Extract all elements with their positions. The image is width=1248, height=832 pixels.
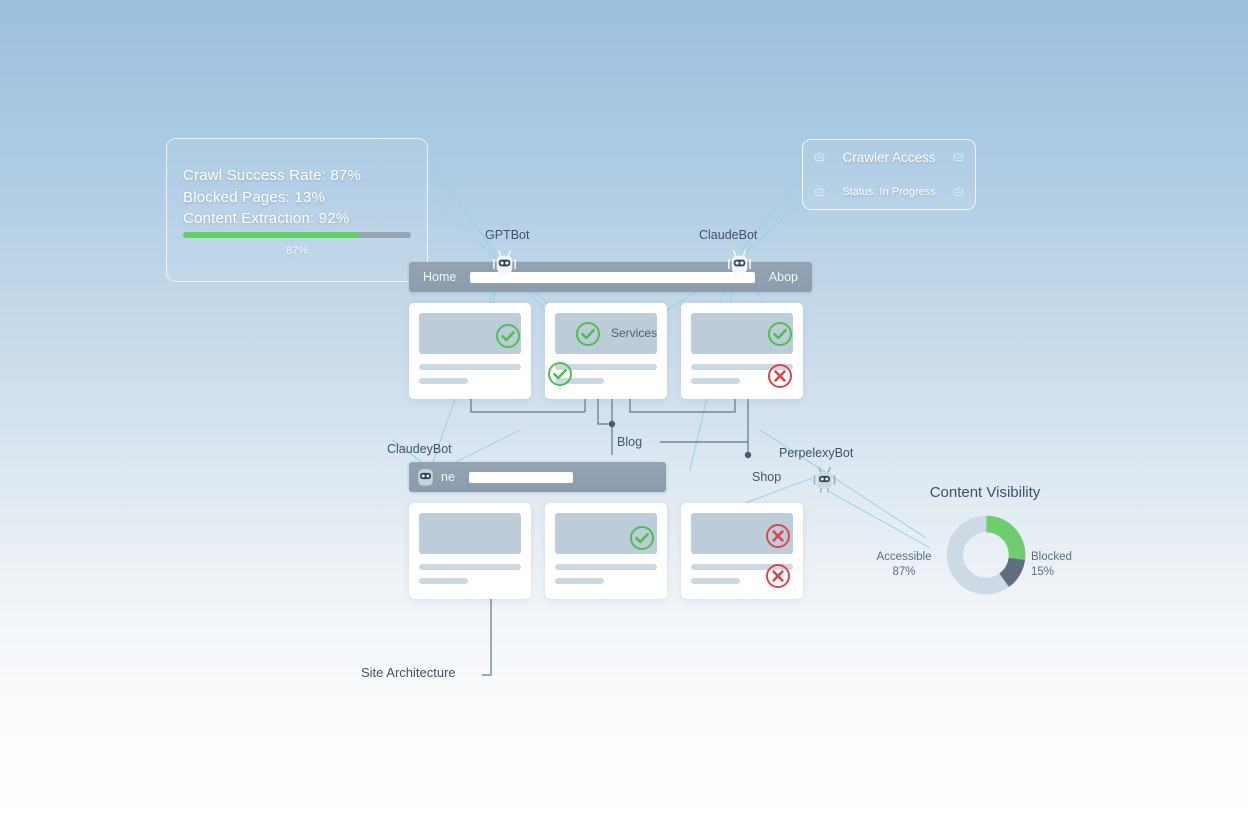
- robot-icon: [487, 247, 522, 279]
- browser-window-top: Home Abop Services: [409, 262, 812, 399]
- crawler-status-text: Status: In Progress: [827, 186, 951, 198]
- page-card-home[interactable]: [409, 303, 531, 399]
- node-label-blog: Blog: [617, 435, 642, 449]
- nav-about-link[interactable]: Abop: [769, 270, 798, 284]
- robot-icon: [808, 464, 841, 494]
- status-badge-blocked: [765, 563, 791, 589]
- bottom-card-row: [409, 503, 812, 599]
- robot-icon: [951, 185, 966, 199]
- status-badge-blocked: [765, 523, 791, 549]
- robot-icon: [409, 461, 442, 491]
- donut-svg: [945, 514, 1027, 596]
- progress-bar: 87%: [183, 232, 411, 257]
- status-badge-accessible: [629, 525, 655, 551]
- connector-lines-layer: [0, 0, 1248, 832]
- legend-blocked-name: Blocked: [1031, 550, 1105, 565]
- card-text-line: [419, 564, 521, 570]
- robot-icon: [812, 185, 827, 199]
- card-text-line: [419, 378, 468, 384]
- bot-label-claudebot: ClaudeBot: [699, 228, 757, 242]
- node-label-shop: Shop: [752, 470, 781, 484]
- crawl-stats-panel: Crawl Success Rate: 87% Blocked Pages: 1…: [166, 138, 428, 282]
- progress-track: [183, 232, 411, 238]
- card-text-line: [555, 578, 604, 584]
- legend-accessible-name: Accessible: [865, 550, 943, 565]
- progress-fill: [183, 232, 359, 238]
- stat-content-extraction: Content Extraction: 92%: [183, 208, 411, 230]
- content-visibility-chart: Content Visibility Accessible 87% Blocke…: [865, 484, 1105, 614]
- robot-icon: [812, 150, 827, 164]
- progress-label: 87%: [183, 245, 411, 257]
- nav-home-link[interactable]: Home: [423, 270, 456, 284]
- status-badge-accessible: [495, 323, 521, 349]
- status-badge-accessible: [547, 361, 573, 387]
- card-thumbnail: [419, 513, 521, 554]
- page-card-bottom-3[interactable]: [681, 503, 803, 599]
- status-badge-accessible: [575, 321, 601, 347]
- bottom-navbar: ne: [409, 462, 666, 492]
- crawler-access-title: Crawler Access: [827, 150, 951, 165]
- card-title-services: Services: [611, 326, 657, 340]
- page-card-bottom-1[interactable]: [409, 503, 531, 599]
- top-card-row: Services: [409, 303, 812, 399]
- stat-blocked-pages: Blocked Pages: 13%: [183, 187, 411, 209]
- page-card-third[interactable]: [681, 303, 803, 399]
- address-bar-input[interactable]: [469, 472, 573, 483]
- card-text-line: [555, 564, 657, 570]
- legend-blocked-value: 15%: [1031, 565, 1105, 580]
- crawler-status-row: Status: In Progress: [803, 175, 975, 210]
- card-text-line: [419, 578, 468, 584]
- crawler-title-row: Crawler Access: [803, 140, 975, 175]
- legend-blocked: Blocked 15%: [1031, 550, 1105, 580]
- legend-accessible: Accessible 87%: [865, 550, 943, 580]
- card-text-line: [419, 364, 521, 370]
- page-card-bottom-2[interactable]: [545, 503, 667, 599]
- robot-icon: [951, 150, 966, 164]
- label-site-architecture: Site Architecture: [361, 665, 456, 680]
- diagram-canvas: Crawl Success Rate: 87% Blocked Pages: 1…: [0, 0, 1248, 832]
- bot-label-gptbot: GPTBot: [485, 228, 529, 242]
- card-text-line: [691, 578, 740, 584]
- chart-title: Content Visibility: [865, 484, 1105, 501]
- robot-icon: [722, 247, 757, 279]
- stat-crawl-success-rate: Crawl Success Rate: 87%: [183, 165, 411, 187]
- page-card-services[interactable]: Services: [545, 303, 667, 399]
- status-badge-blocked: [767, 363, 793, 389]
- bot-label-claudeybot: ClaudeyBot: [387, 442, 452, 456]
- status-badge-accessible: [767, 321, 793, 347]
- card-text-line: [691, 378, 740, 384]
- nav-home-link[interactable]: ne: [441, 470, 455, 484]
- bot-label-perpelexybot: PerpelexyBot: [779, 446, 853, 460]
- legend-accessible-value: 87%: [865, 565, 943, 580]
- crawler-access-panel: Crawler Access Status: In Progress: [802, 139, 976, 210]
